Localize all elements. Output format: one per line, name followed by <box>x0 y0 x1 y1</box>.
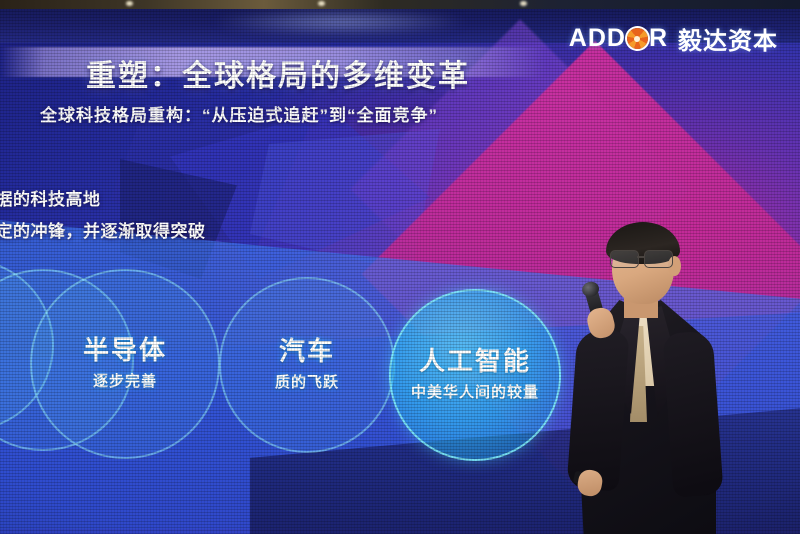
logo-text-add: ADD <box>569 24 626 53</box>
circle-title: 半导体 <box>83 337 167 364</box>
slide-circle-semiconductor: 半导体 逐步完善 <box>32 271 218 457</box>
screenshot-stage: 半导体 逐步完善 汽车 质的飞跃 人工智能 中美华人间的较量 重塑：全球格局的多… <box>0 0 800 534</box>
ceiling-strip <box>0 0 800 9</box>
slide-circle-automotive: 汽车 质的飞跃 <box>221 279 393 451</box>
glasses-lens-right <box>644 250 673 268</box>
slide-bullet-2: 坚定的冲锋，并逐渐取得突破 <box>0 217 206 242</box>
ceiling-spotlight <box>318 1 325 6</box>
circle-caption: 中美华人间的较量 <box>411 381 539 402</box>
glasses-icon <box>608 250 682 267</box>
circle-title: 汽车 <box>279 338 335 365</box>
logo-wordmark-en: ADD R <box>569 24 668 53</box>
glasses-bridge <box>637 256 644 258</box>
slide-bullet-1: 占据的科技高地 <box>0 185 101 210</box>
slide-title: 重塑：全球格局的多维变革 <box>86 51 470 95</box>
logo-wordmark-cn: 毅达资本 <box>678 21 778 56</box>
logo-text-r: R <box>649 24 668 53</box>
aperture-icon <box>627 28 648 49</box>
slide-circle-artificial-intelligence: 人工智能 中美华人间的较量 <box>391 291 559 459</box>
speaker-arm-left <box>566 328 629 491</box>
ceiling-spotlight <box>126 1 133 6</box>
addor-logo: ADD R 毅达资本 <box>569 21 778 56</box>
circle-title: 人工智能 <box>419 348 531 375</box>
circle-caption: 质的飞跃 <box>275 371 339 392</box>
circle-caption: 逐步完善 <box>93 370 157 391</box>
ceiling-spotlight <box>520 1 527 6</box>
speaker-arm-right <box>662 330 723 497</box>
screen-glare <box>210 9 470 35</box>
speaker-person <box>556 222 756 534</box>
glasses-lens-left <box>610 250 639 268</box>
slide-subtitle: 全球科技格局重构：“从压迫式追赶”到“全面竞争” <box>40 101 438 126</box>
